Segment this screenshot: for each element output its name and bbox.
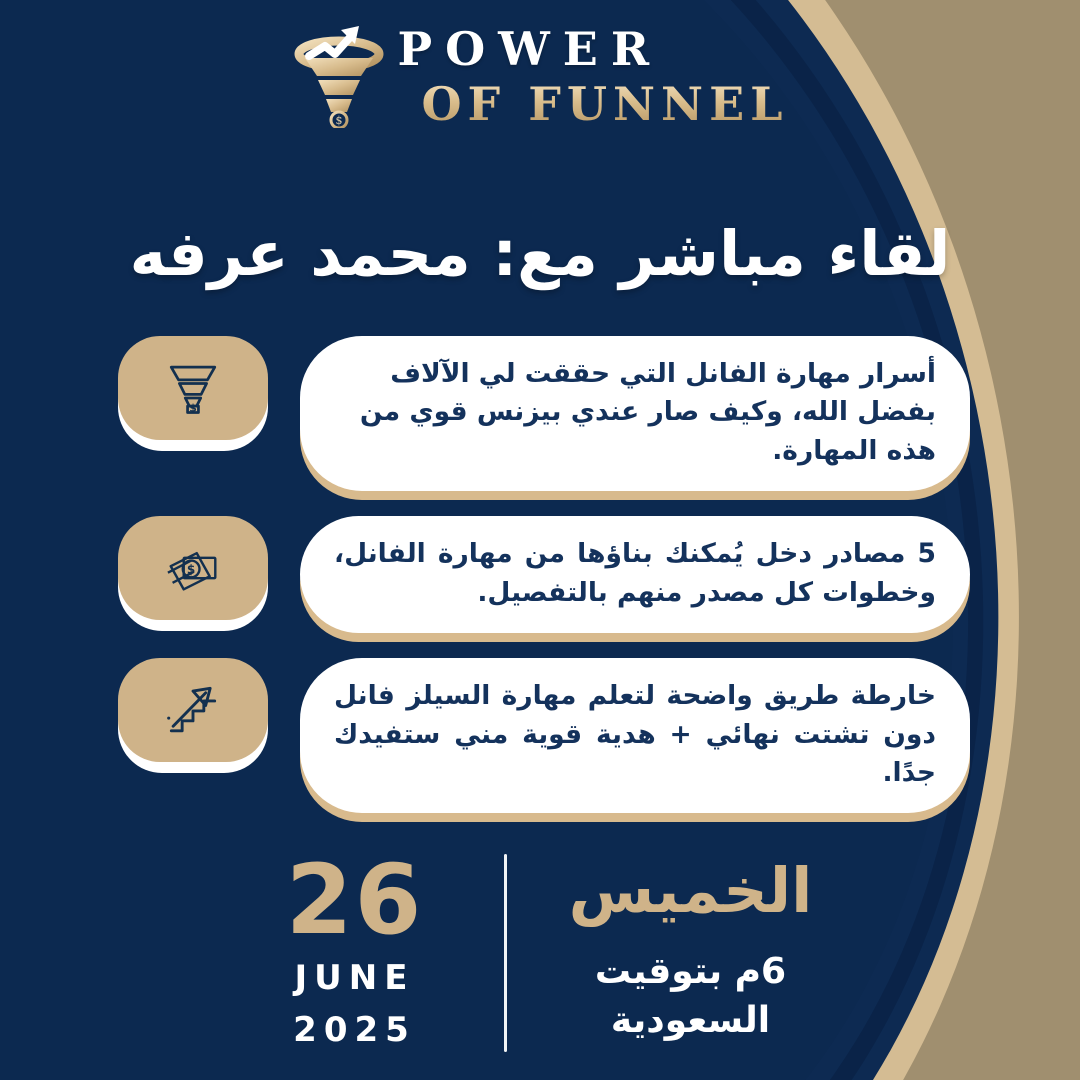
event-year: 2025 [240,1010,470,1050]
stairs-growth-arrow-icon [118,658,268,762]
bullet-text-2: 5 مصادر دخل يُمكنك بناؤها من مهارة الفان… [300,516,970,633]
funnel-dollar-icon: $ [118,336,268,440]
svg-text:$: $ [336,114,343,127]
bullet-pill-1: أسرار مهارة الفانل التي حققت لي الآلاف ب… [300,336,970,491]
bullet-pill-2: 5 مصادر دخل يُمكنك بناؤها من مهارة الفان… [300,516,970,633]
bullet-pill-3: خارطة طريق واضحة لتعلم مهارة السيلز فانل… [300,658,970,813]
svg-text:$: $ [187,563,195,577]
svg-text:$: $ [189,402,197,415]
bullet-icon-1: $ [118,336,268,451]
list-item: $ 5 مصادر دخل يُمكنك بناؤها من مهارة الف… [118,516,970,633]
brand-logo: $ POWER OF FUNNEL [0,24,1080,128]
bullet-text-1: أسرار مهارة الفانل التي حققت لي الآلاف ب… [300,336,970,491]
brand-word-funnel: OF FUNNEL [421,81,788,127]
event-schedule: الخميس 6م بتوقيت السعودية 26 JUNE 2025 [0,854,1080,1052]
event-month: JUNE [240,958,470,998]
event-time: 6م بتوقيت السعودية [541,948,841,1045]
brand-wordmark: POWER OF FUNNEL [397,26,788,127]
page-title: لقاء مباشر مع: محمد عرفه [60,217,1020,290]
poster-canvas: $ POWER OF FUNNEL لقاء مباشر مع: محمد عر… [0,0,1080,1080]
money-banknotes-icon: $ [118,516,268,620]
vertical-divider [504,854,507,1052]
funnel-arrow-logo-icon: $ [291,24,387,128]
bullet-icon-3 [118,658,268,773]
day-time-block: الخميس 6م بتوقيت السعودية [541,860,841,1045]
date-block: 26 JUNE 2025 [240,856,470,1050]
brand-word-power: POWER [397,26,788,72]
bullet-icon-2: $ [118,516,268,631]
event-day-name: الخميس [541,860,841,922]
bullet-list: $ أسرار مهارة الفانل التي حققت لي الآلاف… [118,336,970,813]
list-item: $ أسرار مهارة الفانل التي حققت لي الآلاف… [118,336,970,491]
bullet-text-3: خارطة طريق واضحة لتعلم مهارة السيلز فانل… [300,658,970,813]
list-item: خارطة طريق واضحة لتعلم مهارة السيلز فانل… [118,658,970,813]
event-day-number: 26 [240,856,470,944]
